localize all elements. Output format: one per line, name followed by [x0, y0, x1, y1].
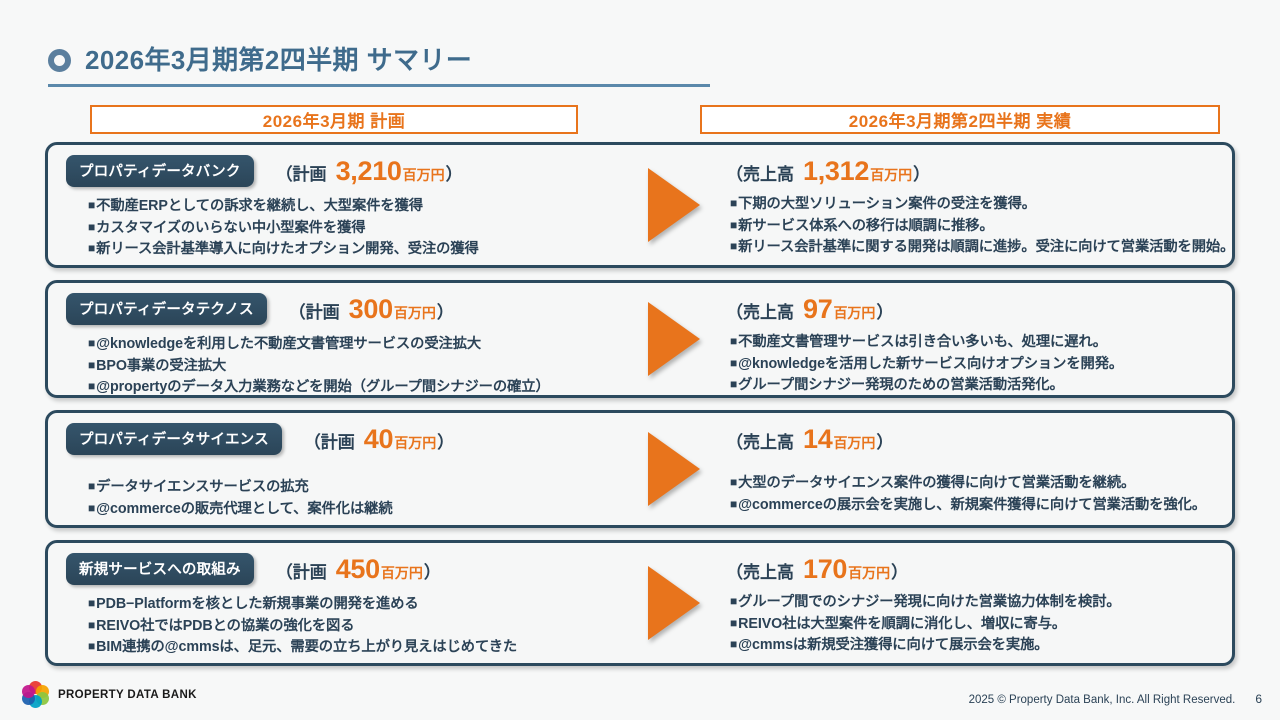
plan-bullet-item: BPO事業の受注拡大: [88, 356, 628, 378]
actual-side: （売上高170百万円）グループ間でのシナジー発現に向けた営業協力体制を検討。RE…: [708, 543, 1233, 663]
plan-amount: （計画300百万円）: [289, 294, 454, 325]
actual-amount-unit: 百万円: [848, 563, 890, 583]
actual-amount-unit: 百万円: [833, 303, 875, 323]
segment-badge: 新規サービスへの取組み: [66, 553, 254, 585]
actual-bullet-item: 大型のデータサイエンス案件の獲得に向けて営業活動を継続。: [730, 473, 1233, 495]
plan-bullet-list: @knowledgeを利用した不動産文書管理サービスの受注拡大BPO事業の受注拡…: [66, 334, 628, 399]
arrow-right-icon: [648, 566, 700, 640]
plan-amount-unit: 百万円: [394, 433, 436, 453]
actual-amount-value: 14: [803, 424, 832, 455]
actual-bullet-item: REIVO社は大型案件を順調に消化し、増収に寄与。: [730, 614, 1233, 636]
plan-bullet-item: データサイエンスサービスの拡充: [88, 477, 628, 499]
plan-amount: （計画40百万円）: [304, 424, 454, 455]
plan-bullet-item: カスタマイズのいらない中小型案件を獲得: [88, 218, 628, 240]
ring-icon: [48, 49, 71, 72]
actual-amount-unit: 百万円: [870, 165, 912, 185]
actual-amount: （売上高14百万円）: [726, 424, 893, 455]
summary-card: プロパティデータバンク（計画3,210百万円）不動産ERPとしての訴求を継続し、…: [45, 142, 1235, 268]
plan-head: プロパティデータサイエンス（計画40百万円）: [66, 423, 628, 455]
page-title: 2026年3月期第2四半期 サマリー: [85, 40, 472, 77]
plan-amount-label: （計画: [289, 298, 340, 323]
plan-bullet-list: PDB−Platformを核とした新規事業の開発を進めるREIVO社ではPDBと…: [66, 594, 628, 659]
plan-bullet-item: @propertyのデータ入力業務などを開始（グループ間シナジーの確立）: [88, 377, 628, 399]
actual-bullet-item: @commerceの展示会を実施し、新規案件獲得に向けて営業活動を強化。: [730, 495, 1233, 517]
arrow-right-icon: [648, 168, 700, 242]
actual-bullet-item: 新サービス体系への移行は順調に推移。: [730, 216, 1233, 238]
actual-bullet-list: グループ間でのシナジー発現に向けた営業協力体制を検討。REIVO社は大型案件を順…: [716, 592, 1233, 657]
plan-amount-value: 300: [349, 294, 393, 325]
plan-amount-label: （計画: [304, 428, 355, 453]
actual-bullet-list: 大型のデータサイエンス案件の獲得に向けて営業活動を継続。@commerceの展示…: [716, 473, 1233, 516]
actual-bullet-list: 下期の大型ソリューション案件の受注を獲得。新サービス体系への移行は順調に推移。新…: [716, 194, 1233, 259]
segment-badge: プロパティデータバンク: [66, 155, 254, 187]
summary-card: プロパティデータサイエンス（計画40百万円）データサイエンスサービスの拡充@co…: [45, 410, 1235, 528]
plan-head: 新規サービスへの取組み（計画450百万円）: [66, 553, 628, 585]
actual-amount-close: ）: [913, 160, 930, 185]
plan-bullet-item: REIVO社ではPDBとの協業の強化を図る: [88, 616, 628, 638]
plan-amount-label: （計画: [276, 160, 327, 185]
actual-amount-label: （売上高: [726, 428, 794, 453]
actual-side: （売上高1,312百万円）下期の大型ソリューション案件の受注を獲得。新サービス体…: [708, 145, 1233, 265]
plan-amount-value: 3,210: [336, 156, 402, 187]
plan-side: プロパティデータサイエンス（計画40百万円）データサイエンスサービスの拡充@co…: [48, 413, 628, 525]
footer-logo: PROPERTY DATA BANK: [22, 681, 197, 708]
actual-amount: （売上高1,312百万円）: [726, 156, 930, 187]
page-number: 6: [1255, 692, 1262, 706]
plan-amount-unit: 百万円: [381, 563, 423, 583]
actual-amount-value: 170: [803, 554, 847, 585]
actual-amount-label: （売上高: [726, 558, 794, 583]
column-header-plan: 2026年3月期 計画: [90, 105, 578, 134]
company-logo-icon: [22, 681, 49, 708]
plan-amount-close: ）: [446, 160, 463, 185]
plan-bullet-list: 不動産ERPとしての訴求を継続し、大型案件を獲得カスタマイズのいらない中小型案件…: [66, 196, 628, 261]
arrow-right-icon: [648, 302, 700, 376]
actual-side: （売上高97百万円）不動産文書管理サービスは引き合い多いも、処理に遅れ。@kno…: [708, 283, 1233, 395]
plan-side: 新規サービスへの取組み（計画450百万円）PDB−Platformを核とした新規…: [48, 543, 628, 663]
plan-bullet-item: @commerceの販売代理として、案件化は継続: [88, 499, 628, 521]
actual-amount-value: 1,312: [803, 156, 869, 187]
plan-bullet-item: 不動産ERPとしての訴求を継続し、大型案件を獲得: [88, 196, 628, 218]
title-divider: [48, 84, 710, 87]
actual-amount: （売上高170百万円）: [726, 554, 908, 585]
actual-bullet-item: @cmmsは新規受注獲得に向けて展示会を実施。: [730, 635, 1233, 657]
arrow-right-icon: [648, 432, 700, 506]
company-name: PROPERTY DATA BANK: [58, 689, 197, 701]
summary-card: プロパティデータテクノス（計画300百万円）@knowledgeを利用した不動産…: [45, 280, 1235, 398]
plan-side: プロパティデータテクノス（計画300百万円）@knowledgeを利用した不動産…: [48, 283, 628, 395]
actual-bullet-item: 下期の大型ソリューション案件の受注を獲得。: [730, 194, 1233, 216]
plan-head: プロパティデータバンク（計画3,210百万円）: [66, 155, 628, 187]
actual-side: （売上高14百万円）大型のデータサイエンス案件の獲得に向けて営業活動を継続。@c…: [708, 413, 1233, 525]
plan-amount-value: 40: [364, 424, 393, 455]
actual-amount-close: ）: [876, 428, 893, 453]
plan-amount-close: ）: [437, 298, 454, 323]
actual-amount-value: 97: [803, 294, 832, 325]
actual-bullet-item: @knowledgeを活用した新サービス向けオプションを開発。: [730, 354, 1233, 376]
plan-bullet-item: PDB−Platformを核とした新規事業の開発を進める: [88, 594, 628, 616]
plan-amount-close: ）: [424, 558, 441, 583]
plan-amount-unit: 百万円: [403, 165, 445, 185]
footer-right: 2025 © Property Data Bank, Inc. All Righ…: [969, 692, 1262, 706]
actual-amount-close: ）: [891, 558, 908, 583]
plan-amount-label: （計画: [276, 558, 327, 583]
plan-amount-value: 450: [336, 554, 380, 585]
plan-side: プロパティデータバンク（計画3,210百万円）不動産ERPとしての訴求を継続し、…: [48, 145, 628, 265]
actual-bullet-item: グループ間でのシナジー発現に向けた営業協力体制を検討。: [730, 592, 1233, 614]
actual-bullet-list: 不動産文書管理サービスは引き合い多いも、処理に遅れ。@knowledgeを活用し…: [716, 332, 1233, 397]
plan-amount-close: ）: [437, 428, 454, 453]
plan-amount: （計画3,210百万円）: [276, 156, 463, 187]
copyright-text: 2025 © Property Data Bank, Inc. All Righ…: [969, 694, 1236, 706]
column-header-actual: 2026年3月期第2四半期 実績: [700, 105, 1220, 134]
plan-amount: （計画450百万円）: [276, 554, 441, 585]
actual-amount: （売上高97百万円）: [726, 294, 893, 325]
slide-title-row: 2026年3月期第2四半期 サマリー: [48, 40, 472, 77]
plan-head: プロパティデータテクノス（計画300百万円）: [66, 293, 628, 325]
actual-bullet-item: 新リース会計基準に関する開発は順調に進捗。受注に向けて営業活動を開始。: [730, 237, 1233, 259]
actual-amount-unit: 百万円: [833, 433, 875, 453]
segment-badge: プロパティデータテクノス: [66, 293, 267, 325]
segment-badge: プロパティデータサイエンス: [66, 423, 282, 455]
actual-amount-close: ）: [876, 298, 893, 323]
plan-amount-unit: 百万円: [394, 303, 436, 323]
plan-bullet-item: 新リース会計基準導入に向けたオプション開発、受注の獲得: [88, 239, 628, 261]
plan-bullet-item: @knowledgeを利用した不動産文書管理サービスの受注拡大: [88, 334, 628, 356]
summary-card: 新規サービスへの取組み（計画450百万円）PDB−Platformを核とした新規…: [45, 540, 1235, 666]
actual-bullet-item: 不動産文書管理サービスは引き合い多いも、処理に遅れ。: [730, 332, 1233, 354]
plan-bullet-list: データサイエンスサービスの拡充@commerceの販売代理として、案件化は継続: [66, 477, 628, 520]
actual-bullet-item: グループ間シナジー発現のための営業活動活発化。: [730, 375, 1233, 397]
plan-bullet-item: BIM連携の@cmmsは、足元、需要の立ち上がり見えはじめてきた: [88, 637, 628, 659]
actual-amount-label: （売上高: [726, 298, 794, 323]
actual-amount-label: （売上高: [726, 160, 794, 185]
